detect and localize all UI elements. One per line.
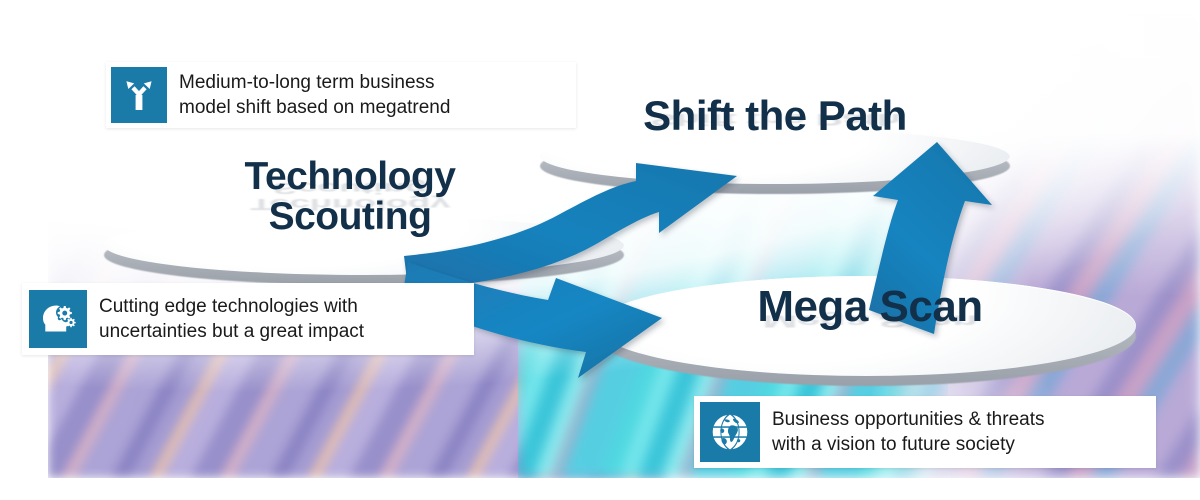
fork-road-icon [111,67,167,123]
platform-title-mega-scan: Mega Scan [715,285,1025,330]
infographic-canvas: Shift the Path Technology Scouting Mega … [0,0,1200,500]
platform-title-shift-the-path: Shift the Path [615,95,935,138]
callout-text-technology-scouting: Cutting edge technologies with uncertain… [87,294,378,344]
callout-text-mega-scan: Business opportunities & threats with a … [760,407,1059,457]
callout-shift-the-path: Medium-to-long term business model shift… [106,62,576,128]
platform-title-technology-scouting: Technology Scouting [190,157,510,237]
globe-icon [700,402,760,462]
callout-text-shift-the-path: Medium-to-long term business model shift… [167,70,464,120]
head-gears-icon [29,290,87,348]
callout-technology-scouting: Cutting edge technologies with uncertain… [22,283,474,355]
callout-mega-scan: Business opportunities & threats with a … [694,396,1156,468]
